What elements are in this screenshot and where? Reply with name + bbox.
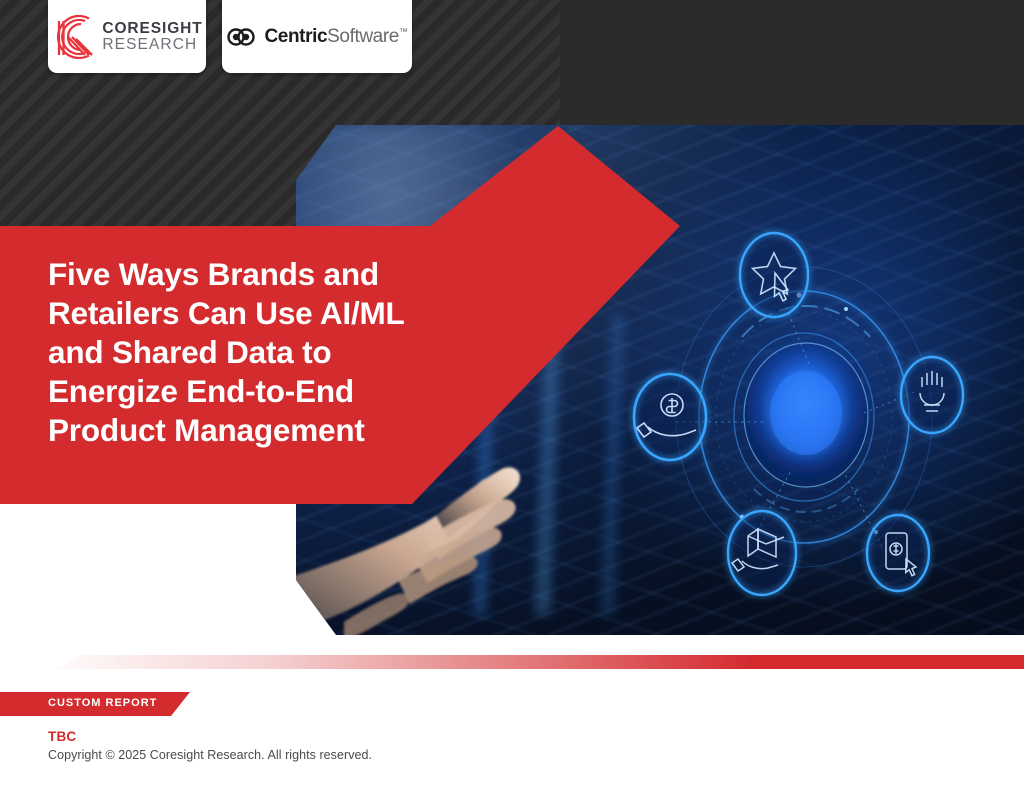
- centric-wordmark-light: Software: [327, 26, 399, 47]
- coresight-wordmark-line2: RESEARCH: [102, 37, 202, 53]
- red-gradient-accent-bar: [56, 655, 1024, 669]
- centric-lockup: CentricSoftware™: [226, 26, 407, 48]
- custom-report-badge-label: CUSTOM REPORT: [48, 697, 248, 709]
- page-title-wrap: Five Ways Brands and Retailers Can Use A…: [48, 255, 468, 450]
- centric-wordmark-bold: Centric: [264, 26, 327, 47]
- coresight-c-mark-icon: [51, 15, 95, 59]
- report-cover-page: Five Ways Brands and Retailers Can Use A…: [0, 0, 1024, 789]
- coresight-wordmark-line1: CORESIGHT: [102, 21, 202, 37]
- report-subtitle: TBC: [48, 729, 76, 744]
- page-title: Five Ways Brands and Retailers Can Use A…: [48, 255, 468, 450]
- coresight-research-logo-card: CORESIGHT RESEARCH: [48, 0, 206, 73]
- copyright-text: Copyright © 2025 Coresight Research. All…: [48, 748, 372, 762]
- hud-circular-interface: [614, 217, 994, 617]
- centric-wordmark: CentricSoftware™: [264, 26, 407, 48]
- coresight-wordmark: CORESIGHT RESEARCH: [102, 21, 202, 52]
- centric-trademark: ™: [399, 26, 408, 36]
- centric-software-logo-card: CentricSoftware™: [222, 0, 412, 73]
- coresight-lockup: CORESIGHT RESEARCH: [51, 15, 202, 59]
- centric-infinity-mark-icon: [226, 27, 256, 47]
